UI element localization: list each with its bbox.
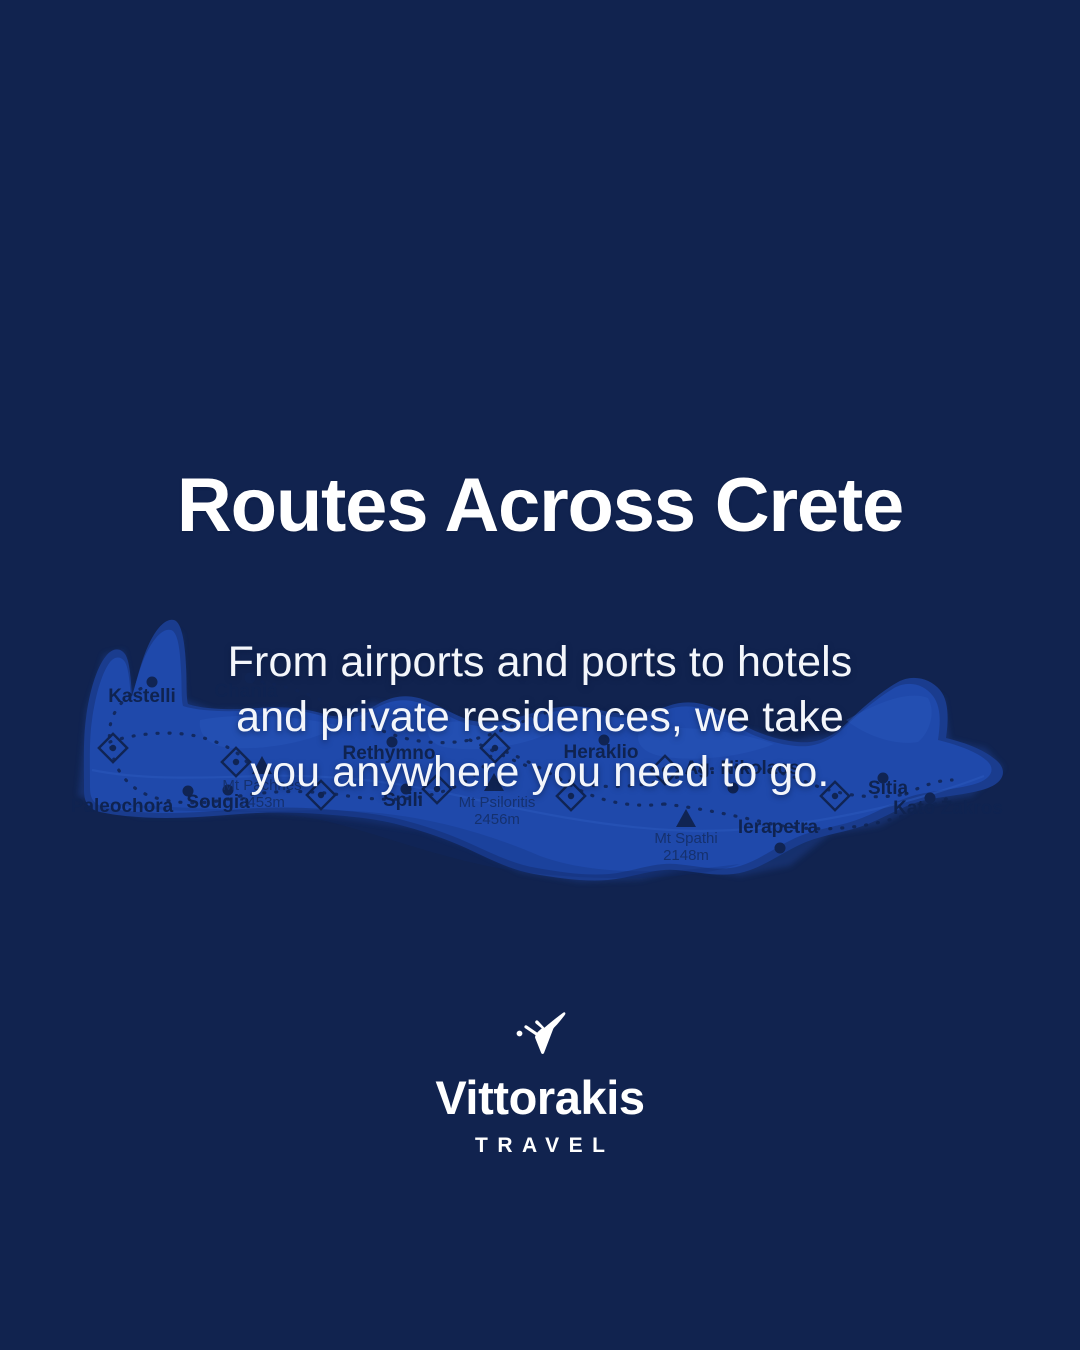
logo-tagline: TRAVEL: [0, 1135, 1080, 1156]
airplane-icon: [508, 1008, 572, 1058]
subtitle-line-3: you anywhere you need to go.: [0, 745, 1080, 800]
subtitle-line-2: and private residences, we take: [0, 690, 1080, 745]
airplane-trail-dot: [517, 1031, 523, 1037]
logo-wordmark: Vittorakis: [0, 1074, 1080, 1121]
brand-logo: Vittorakis TRAVEL: [0, 1008, 1080, 1156]
subtitle-line-1: From airports and ports to hotels: [0, 635, 1080, 690]
poster-canvas: Kastelli Chania Paleochora Sougia Rethym…: [0, 0, 1080, 1350]
page-title: Routes Across Crete: [0, 468, 1080, 544]
subtitle-block: From airports and ports to hotels and pr…: [0, 635, 1080, 800]
poster-content: Routes Across Crete From airports and po…: [0, 0, 1080, 1350]
